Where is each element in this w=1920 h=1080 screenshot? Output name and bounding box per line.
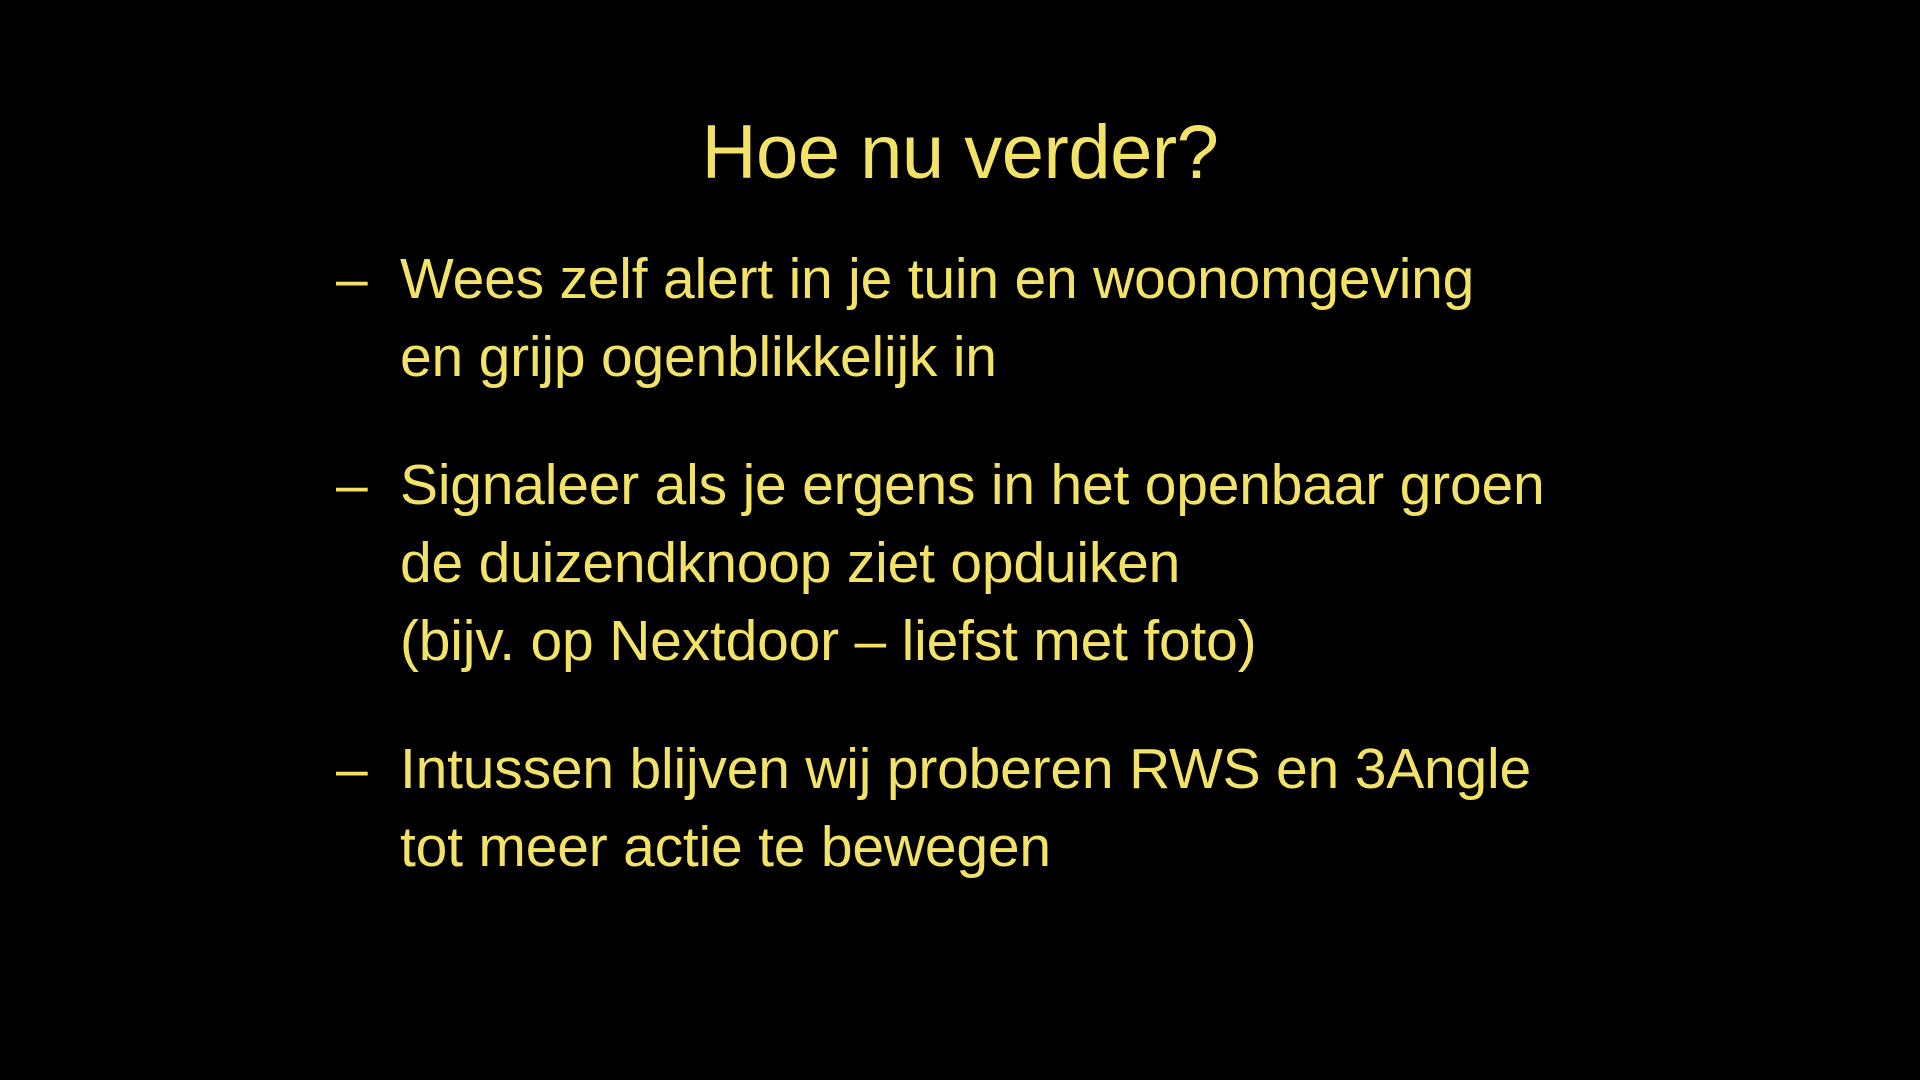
bullet-line: tot meer actie te bewegen xyxy=(400,808,1676,886)
bullet-text-3: Intussen blijven wij proberen RWS en 3An… xyxy=(400,730,1676,886)
bullet-line: Signaleer als je ergens in het openbaar … xyxy=(400,446,1676,524)
bullet-line: Wees zelf alert in je tuin en woonomgevi… xyxy=(400,240,1676,318)
bullet-text-1: Wees zelf alert in je tuin en woonomgevi… xyxy=(400,240,1676,396)
bullet-line: Intussen blijven wij proberen RWS en 3An… xyxy=(400,730,1676,808)
presentation-slide: Hoe nu verder? – Wees zelf alert in je t… xyxy=(0,0,1920,1080)
slide-title: Hoe nu verder? xyxy=(0,115,1920,191)
bullet-dash-icon: – xyxy=(336,730,400,808)
bullet-text-2: Signaleer als je ergens in het openbaar … xyxy=(400,446,1676,680)
bullet-line: en grijp ogenblikkelijk in xyxy=(400,318,1676,396)
bullet-item-1: – Wees zelf alert in je tuin en woonomge… xyxy=(336,240,1676,396)
bullet-item-3: – Intussen blijven wij proberen RWS en 3… xyxy=(336,730,1676,886)
bullet-list: – Wees zelf alert in je tuin en woonomge… xyxy=(336,240,1676,886)
bullet-line: (bijv. op Nextdoor – liefst met foto) xyxy=(400,602,1676,680)
bullet-item-2: – Signaleer als je ergens in het openbaa… xyxy=(336,446,1676,680)
bullet-dash-icon: – xyxy=(336,446,400,524)
bullet-dash-icon: – xyxy=(336,240,400,318)
bullet-line: de duizendknoop ziet opduiken xyxy=(400,524,1676,602)
